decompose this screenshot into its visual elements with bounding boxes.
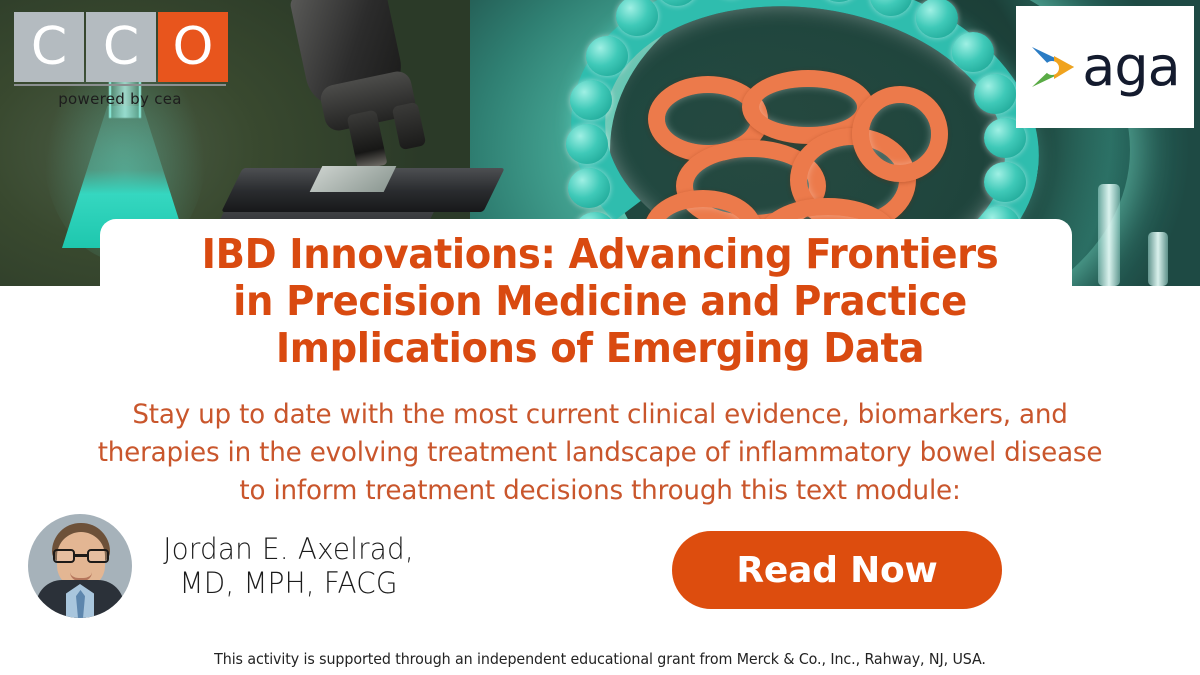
faculty-name: Jordan E. Axelrad, MD, MPH, FACG [163, 532, 414, 600]
cco-logo[interactable]: C C O powered by cea [14, 12, 234, 108]
aga-logo[interactable]: aga [1016, 6, 1194, 128]
subtitle-line-3: to inform treatment decisions through th… [18, 472, 1182, 510]
cco-letter-c1: C [14, 12, 84, 82]
cco-logo-squares: C C O [14, 12, 234, 82]
title-line-3: Implications of Emerging Data [36, 325, 1164, 372]
aga-triangle-icon [1030, 45, 1076, 89]
cco-logo-divider [14, 84, 226, 86]
support-statement: This activity is supported through an in… [30, 650, 1170, 668]
avatar [28, 514, 132, 618]
page-title: IBD Innovations: Advancing Frontiers in … [36, 231, 1164, 372]
cco-tagline: powered by cea [14, 90, 226, 108]
subtitle-line-1: Stay up to date with the most current cl… [18, 396, 1182, 434]
title-line-2: in Precision Medicine and Practice [36, 278, 1164, 325]
page-subtitle: Stay up to date with the most current cl… [18, 396, 1182, 510]
read-now-button[interactable]: Read Now [672, 531, 1002, 609]
faculty-block: Jordan E. Axelrad, MD, MPH, FACG [28, 514, 628, 618]
cco-letter-c2: C [86, 12, 156, 82]
aga-wordmark: aga [1082, 41, 1179, 92]
promotional-banner: C C O powered by cea aga IBD Innovations… [0, 0, 1200, 675]
title-line-1: IBD Innovations: Advancing Frontiers [36, 231, 1164, 278]
cco-letter-o: O [158, 12, 228, 82]
faculty-name-line-2: MD, MPH, FACG [163, 566, 414, 600]
faculty-name-line-1: Jordan E. Axelrad, [163, 532, 414, 566]
subtitle-line-2: therapies in the evolving treatment land… [18, 434, 1182, 472]
